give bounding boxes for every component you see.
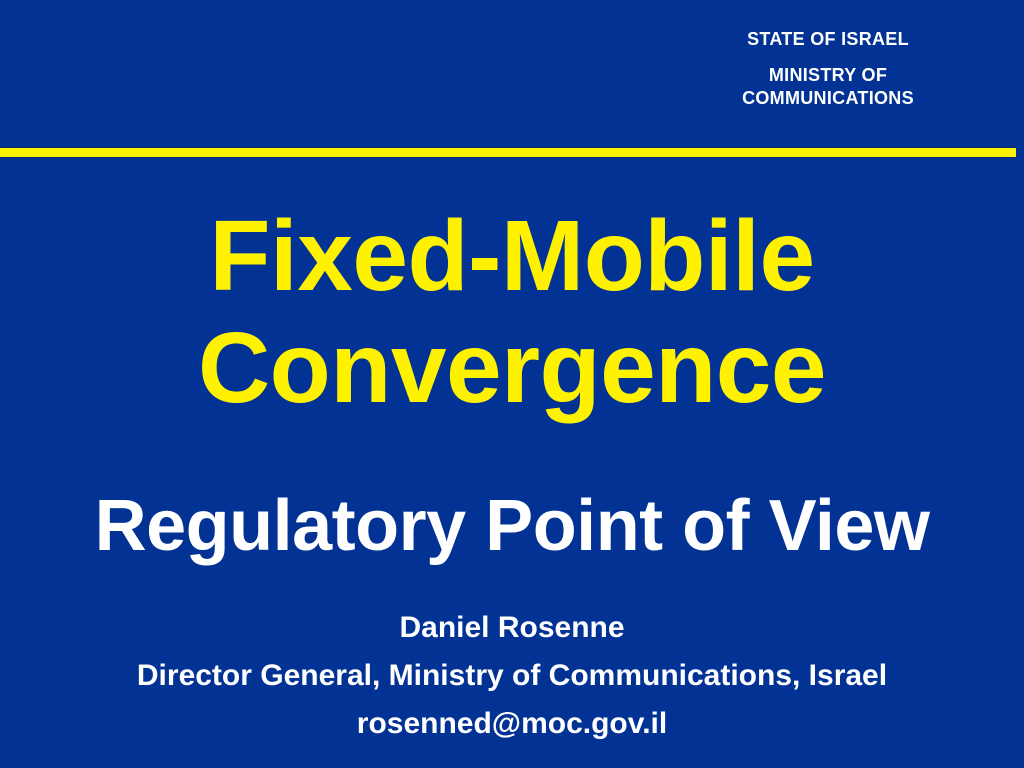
header-state-label: STATE OF ISRAEL	[640, 30, 1016, 48]
slide-title-line-1: Fixed-Mobile	[0, 200, 1024, 312]
presenter-email: rosenned@moc.gov.il	[0, 709, 1024, 739]
slide-title-line-2: Convergence	[0, 312, 1024, 424]
presenter-credits: Daniel Rosenne Director General, Ministr…	[0, 613, 1024, 739]
organization-header: STATE OF ISRAEL MINISTRY OF COMMUNICATIO…	[640, 30, 1016, 107]
header-ministry-line-1: MINISTRY OF	[640, 66, 1016, 84]
presentation-title-slide: STATE OF ISRAEL MINISTRY OF COMMUNICATIO…	[0, 0, 1024, 768]
slide-subtitle: Regulatory Point of View	[0, 487, 1024, 566]
presenter-name: Daniel Rosenne	[0, 613, 1024, 643]
slide-title: Fixed-Mobile Convergence	[0, 200, 1024, 424]
slide-subtitle-text: Regulatory Point of View	[0, 487, 1024, 566]
presenter-role: Director General, Ministry of Communicat…	[0, 661, 1024, 691]
header-divider-rule	[0, 147, 1016, 158]
header-ministry-line-2: COMMUNICATIONS	[640, 89, 1016, 107]
